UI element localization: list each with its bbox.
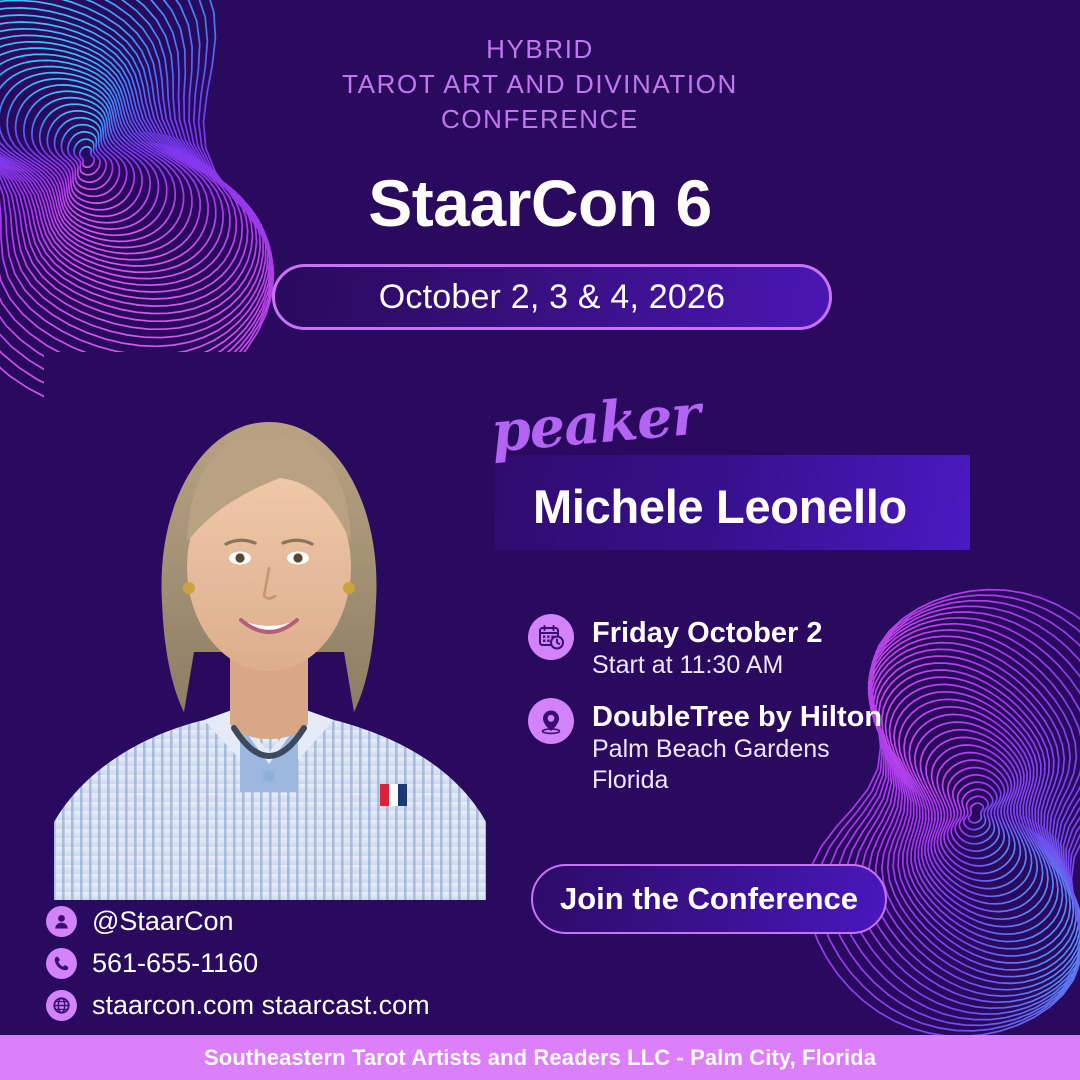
- header-line-2: TAROT ART AND DIVINATION: [0, 67, 1080, 102]
- header-line-1: HYBRID: [0, 32, 1080, 67]
- location-pin-icon: [528, 698, 574, 744]
- person-icon: [46, 906, 77, 937]
- info-venue-state: Florida: [592, 765, 882, 796]
- speaker-photo: [44, 352, 494, 900]
- event-flyer: HYBRID TAROT ART AND DIVINATION CONFEREN…: [0, 0, 1080, 1080]
- contact-list: @StaarCon 561-655-1160 staarcon.com st: [46, 906, 430, 1032]
- join-conference-label: Join the Conference: [560, 881, 858, 917]
- info-venue-city: Palm Beach Gardens: [592, 734, 882, 765]
- footer-bar: Southeastern Tarot Artists and Readers L…: [0, 1035, 1080, 1080]
- info-row-venue: DoubleTree by Hilton Palm Beach Gardens …: [528, 698, 882, 796]
- page-title: StaarCon 6: [0, 165, 1080, 241]
- globe-icon: [46, 990, 77, 1021]
- contact-row-social[interactable]: @StaarCon: [46, 906, 430, 937]
- speaker-name: Michele Leonello: [533, 479, 907, 534]
- phone-icon: [46, 948, 77, 979]
- event-date-text: October 2, 3 & 4, 2026: [379, 278, 726, 317]
- contact-row-website[interactable]: staarcon.com staarcast.com: [46, 990, 430, 1021]
- calendar-clock-icon: [528, 614, 574, 660]
- info-date-secondary: Start at 11:30 AM: [592, 650, 822, 681]
- contact-social-text: @StaarCon: [92, 906, 233, 937]
- contact-phone-text: 561-655-1160: [92, 948, 258, 979]
- info-date-primary: Friday October 2: [592, 616, 822, 650]
- info-row-date: Friday October 2 Start at 11:30 AM: [528, 614, 822, 681]
- join-conference-button[interactable]: Join the Conference: [531, 864, 887, 934]
- contact-website-text: staarcon.com staarcast.com: [92, 990, 430, 1021]
- event-date-badge: October 2, 3 & 4, 2026: [272, 264, 832, 330]
- footer-text: Southeastern Tarot Artists and Readers L…: [204, 1045, 876, 1071]
- header-eyebrow: HYBRID TAROT ART AND DIVINATION CONFEREN…: [0, 32, 1080, 137]
- contact-row-phone[interactable]: 561-655-1160: [46, 948, 430, 979]
- header-line-3: CONFERENCE: [0, 102, 1080, 137]
- info-venue-primary: DoubleTree by Hilton: [592, 700, 882, 734]
